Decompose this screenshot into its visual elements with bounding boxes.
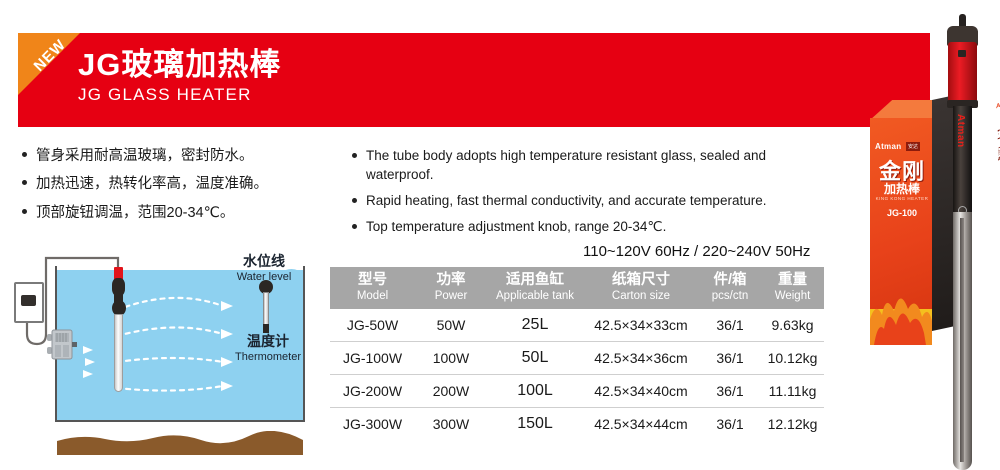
power-outlet [14, 282, 44, 323]
cell-weight: 11.11kg [761, 375, 824, 408]
cell-carton: 42.5×34×33cm [583, 309, 699, 342]
table-row: JG-50W 50W 25L 42.5×34×33cm 36/1 9.63kg [330, 309, 824, 342]
column-header-applicable-tank: 适用鱼缸 Applicable tank [487, 267, 583, 309]
heater-rod-product: Atman [940, 14, 984, 460]
table-header-row: 型号 Model 功率 Power 适用鱼缸 Applicable tank 纸… [330, 267, 824, 309]
heater-glass-tube [114, 314, 123, 392]
thermometer-stem [263, 292, 269, 326]
box-brand-logo: Atman [875, 142, 901, 151]
cell-weight: 9.63kg [761, 309, 824, 342]
cell-model: JG-300W [330, 408, 415, 441]
box-side-brand: Atman [996, 96, 1000, 110]
cell-tank: 50L [487, 342, 583, 375]
cell-model: JG-50W [330, 309, 415, 342]
column-header-carton-size: 纸箱尺寸 Carton size [583, 267, 699, 309]
box-brand-tag: 安达 [906, 142, 920, 151]
thermometer-label-cn: 温度计 [218, 333, 318, 350]
cell-pcs: 36/1 [699, 408, 761, 441]
page-title: JG玻璃加热棒 [78, 39, 281, 84]
box-side-subtitle: 加热棒 [996, 138, 1000, 168]
cell-tank: 100L [487, 375, 583, 408]
feature-item: 顶部旋钮调温，范围20-34℃。 [22, 202, 332, 224]
cell-carton: 42.5×34×40cm [583, 375, 699, 408]
feature-item: 加热迅速，热转化率高，温度准确。 [22, 173, 332, 195]
table-row: JG-300W 300W 150L 42.5×34×44cm 36/1 12.1… [330, 408, 824, 441]
cell-weight: 10.12kg [761, 342, 824, 375]
tank-substrate [57, 431, 303, 455]
column-header-model: 型号 Model [330, 267, 415, 309]
cell-power: 100W [415, 342, 487, 375]
cell-power: 50W [415, 309, 487, 342]
thermometer-tip [263, 324, 269, 333]
cell-tank: 25L [487, 309, 583, 342]
column-header-pcs-per-ctn: 件/箱 pcs/ctn [699, 267, 761, 309]
feature-item: 管身采用耐高温玻璃，密封防水。 [22, 145, 332, 167]
water-level-label: 水位线 Water level [218, 253, 310, 284]
feature-item: Rapid heating, fast thermal conductivity… [352, 191, 772, 210]
thermometer-label-en: Thermometer [218, 350, 318, 364]
water-level-label-en: Water level [218, 270, 310, 284]
box-model-label: JG-100 [874, 208, 930, 218]
water-level-label-cn: 水位线 [218, 253, 310, 270]
cell-weight: 12.12kg [761, 408, 824, 441]
page-subtitle: JG GLASS HEATER [78, 85, 252, 105]
product-photo: Atman 金刚 加热棒 Atman 安达 金刚 加热棒 KING KONG H… [862, 0, 1000, 468]
spec-table: 型号 Model 功率 Power 适用鱼缸 Applicable tank 纸… [330, 267, 824, 440]
cell-pcs: 36/1 [699, 375, 761, 408]
cell-carton: 42.5×34×36cm [583, 342, 699, 375]
cell-pcs: 36/1 [699, 309, 761, 342]
rod-knob-marker-icon [958, 50, 966, 57]
table-row: JG-200W 200W 100L 42.5×34×40cm 36/1 11.1… [330, 375, 824, 408]
features-list-chinese: 管身采用耐高温玻璃，密封防水。 加热迅速，热转化率高，温度准确。 顶部旋钮调温，… [22, 145, 332, 230]
cell-carton: 42.5×34×44cm [583, 408, 699, 441]
thermometer-label: 温度计 Thermometer [218, 333, 318, 364]
cell-power: 200W [415, 375, 487, 408]
flame-graphic [870, 249, 932, 345]
header-banner: NEW JG玻璃加热棒 JG GLASS HEATER [18, 33, 930, 127]
box-subtitle-cn: 加热棒 [874, 180, 930, 197]
box-front-face: Atman 安达 金刚 加热棒 KING KONG HEATER JG-100 [870, 118, 932, 345]
cell-pcs: 36/1 [699, 342, 761, 375]
rod-brand-label: Atman [955, 114, 966, 148]
cell-model: JG-200W [330, 375, 415, 408]
rod-heating-element [960, 218, 964, 462]
table-row: JG-100W 100W 50L 42.5×34×36cm 36/1 10.12… [330, 342, 824, 375]
box-title-en: KING KONG HEATER [874, 196, 930, 201]
filter-pump-icon [46, 328, 80, 361]
features-list-english: The tube body adopts high temperature re… [352, 146, 772, 244]
cell-tank: 150L [487, 408, 583, 441]
cell-model: JG-100W [330, 342, 415, 375]
feature-item: Top temperature adjustment knob, range 2… [352, 217, 772, 236]
thermometer-illustration [258, 280, 274, 334]
voltage-spec: 110~120V 60Hz / 220~240V 50Hz [583, 243, 810, 260]
outlet-socket-icon [21, 295, 36, 306]
feature-item: The tube body adopts high temperature re… [352, 146, 772, 184]
heater-rod-illustration [108, 267, 128, 395]
cell-power: 300W [415, 408, 487, 441]
column-header-weight: 重量 Weight [761, 267, 824, 309]
column-header-power: 功率 Power [415, 267, 487, 309]
